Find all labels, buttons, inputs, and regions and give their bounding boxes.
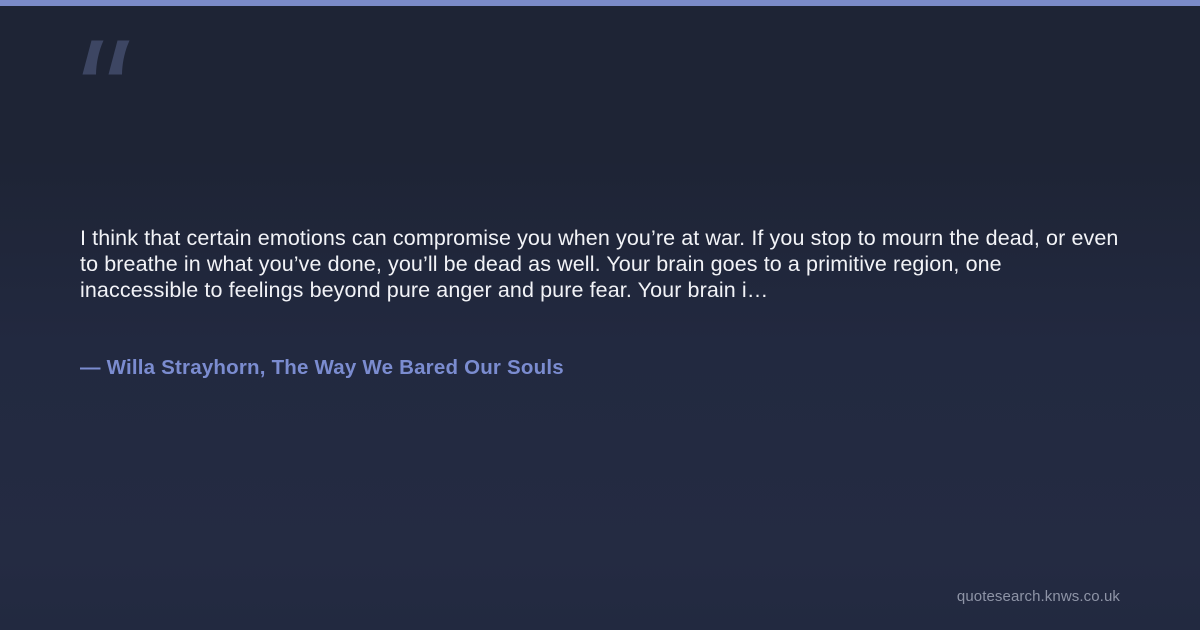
quote-card: I think that certain emotions can compro… (0, 0, 1200, 630)
quote-body: I think that certain emotions can compro… (80, 226, 1125, 303)
quote-attribution: — Willa Strayhorn, The Way We Bared Our … (80, 355, 564, 381)
quote-text: I think that certain emotions can compro… (80, 226, 1125, 303)
site-watermark: quotesearch.knws.co.uk (957, 588, 1120, 606)
top-accent-bar (0, 0, 1200, 6)
open-quote-icon (80, 32, 140, 84)
